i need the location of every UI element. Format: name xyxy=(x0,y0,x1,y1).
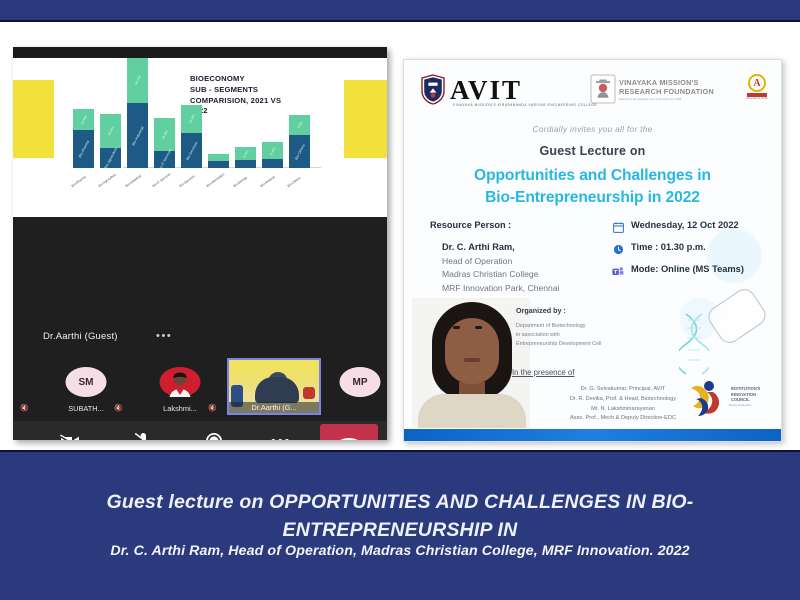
poster-subheading: Guest Lecture on xyxy=(404,144,781,158)
bar-segment-2022: 14.9% xyxy=(73,109,94,130)
organizer-line-3: Entrepreneurship Development Cell xyxy=(516,340,601,349)
bar-value-label: 24% xyxy=(296,121,303,129)
caption-subtitle: Dr. C. Arthi Ram, Head of Operation, Mad… xyxy=(0,543,800,559)
participant-name: SUBATH... xyxy=(49,404,123,413)
bar-segment-2021: Bio-Industrial xyxy=(127,103,148,168)
event-time: Time : 01.30 p.m. xyxy=(631,242,706,252)
meeting-top-bar xyxy=(13,47,387,58)
mic-off-icon: 🔇 xyxy=(208,404,215,413)
chart-category-label: Bio-Informatics xyxy=(206,172,226,188)
event-date-row: Wednesday, 12 Oct 2022 xyxy=(612,220,780,242)
vmrf-name: VINAYAKA MISSION'S RESEARCH FOUNDATION xyxy=(619,79,729,97)
naac-grade: A xyxy=(748,74,766,92)
participant-tile-subath[interactable]: SM SUBATH... 🔇 xyxy=(49,358,123,415)
participant-name: Lakshmi... xyxy=(143,404,217,413)
photo-eye-right xyxy=(475,326,482,329)
share-audio-icon[interactable] xyxy=(198,429,230,440)
bar-segment-2021 xyxy=(208,161,229,168)
event-time-row: Time : 01.30 p.m. xyxy=(612,242,780,264)
bar-segment-2022: 15.9% xyxy=(154,118,175,151)
bar-segment-2021: Bio-Others xyxy=(289,135,310,168)
dna-helix-icon xyxy=(679,312,709,376)
bar-column: 16.8%Bio-Agriculture xyxy=(100,114,121,168)
mic-off-icon[interactable] xyxy=(128,429,160,440)
bar-category-inline-label: Bio-Pharma xyxy=(77,140,89,159)
vmrf-name-line-2: RESEARCH FOUNDATION xyxy=(619,88,729,97)
vmrf-emblem-icon xyxy=(590,74,616,104)
organizer-line-1: Department of Biotechnology xyxy=(516,322,601,331)
meeting-stage-background xyxy=(13,217,387,322)
bar-segment-2022: 16.8% xyxy=(100,114,121,148)
chart-category-label: Bio-Agriculture xyxy=(98,172,117,188)
chart-category-label: Bio-IT Services xyxy=(152,172,172,188)
bar-column: 14.9%Bio-Pharma xyxy=(73,109,94,168)
bar-segment-2021 xyxy=(262,159,283,168)
poster-title-line-2: Bio-Entrepreneurship in 2022 xyxy=(404,187,781,209)
bar-segment-2022: 24% xyxy=(289,115,310,135)
chart-category-label: Bio-Energy xyxy=(233,175,248,188)
active-speaker-name: Dr.Aarthi (Guest) xyxy=(43,331,118,342)
bar-category-inline-label: Bio-Others xyxy=(294,143,306,160)
event-details: Wednesday, 12 Oct 2022 Time : 01.30 p.m. xyxy=(612,220,780,286)
resource-person-name: Dr. C. Arthi Ram, xyxy=(442,242,515,252)
affiliation-line-2: Madras Christian College xyxy=(442,268,560,281)
participant-roster: 🔇 SM SUBATH... 🔇 Lakshmi... xyxy=(13,358,387,418)
teams-icon xyxy=(612,265,624,277)
event-poster: AVIT VINAYAKA MISSION'S KIRUPANANDA VARI… xyxy=(403,59,782,442)
bar-category-inline-label: Bio-Agriculture xyxy=(103,147,118,170)
bar-segment-2021 xyxy=(235,160,256,168)
bar-column: 24%Bio-Others xyxy=(289,115,310,168)
bar-segment-2021: Bio-Pharma xyxy=(73,130,94,168)
caption-band: Guest lecture on OPPORTUNITIES AND CHALL… xyxy=(0,450,800,600)
shared-screen-slide: BIOECONOMY SUB - SEGMENTS COMPARISION, 2… xyxy=(13,58,387,217)
bar-column: 16.9%Bio-Services xyxy=(181,105,202,168)
bar-column: 6.6% xyxy=(262,142,283,168)
resource-person-heading: Resource Person : xyxy=(430,220,511,230)
organized-by-details: Department of Biotechnology in associati… xyxy=(516,322,601,350)
participant-tile-partial[interactable]: 🔇 xyxy=(13,358,29,415)
bar-segment-2022: 4.4% xyxy=(235,147,256,160)
iic-ministry-note: Ministry of Education xyxy=(729,404,777,407)
content-area: BIOECONOMY SUB - SEGMENTS COMPARISION, 2… xyxy=(0,24,800,450)
more-options-icon[interactable]: ••• xyxy=(265,429,297,440)
organizer-line-2: in association with xyxy=(516,331,601,340)
affiliation-line-3: MRF Innovation Park, Chennai xyxy=(442,282,560,295)
bar-value-label: 16.9% xyxy=(187,114,195,125)
event-mode-row: Mode: Online (MS Teams) xyxy=(612,264,780,286)
bar-segment-2021: Bio-Agriculture xyxy=(100,148,121,168)
mic-off-icon: 🔇 xyxy=(20,404,27,413)
chart-category-label: Bio-Others xyxy=(287,176,302,188)
slide-decoration-right xyxy=(344,80,387,158)
bar-segment-2022: 46.4% xyxy=(127,58,148,103)
bar-value-label: 46.4% xyxy=(133,74,141,85)
camera-off-icon[interactable] xyxy=(55,429,87,440)
clock-icon xyxy=(612,243,624,255)
poster-title: Opportunities and Challenges in Bio-Entr… xyxy=(404,165,781,209)
bar-segment-2022: 6.6% xyxy=(262,142,283,159)
avatar: SM xyxy=(66,367,107,397)
bar-value-label: 4.4% xyxy=(242,149,249,158)
avatar: MP xyxy=(340,367,381,397)
participant-name: Dr.Aarthi (G... xyxy=(229,402,319,413)
meeting-control-bar: ••• xyxy=(13,421,387,440)
slide-decoration-left xyxy=(13,80,54,158)
calendar-icon xyxy=(612,221,624,233)
participant-tile-mp[interactable]: MP xyxy=(333,358,387,415)
bar-column: 4.4% xyxy=(235,147,256,168)
bar-category-inline-label: Bio-Services xyxy=(185,141,198,161)
poster-footer-band xyxy=(404,428,781,441)
bar-value-label: 14.9% xyxy=(79,114,87,125)
presence-heading: In the presence of xyxy=(512,368,574,377)
iic-label: INSTITUTION'S INNOVATION COUNCIL xyxy=(731,386,777,403)
participant-tile-lakshmi[interactable]: Lakshmi... 🔇 xyxy=(143,358,217,415)
ms-teams-meeting-window: BIOECONOMY SUB - SEGMENTS COMPARISION, 2… xyxy=(13,47,387,440)
vmrf-deemed-note: Deemed to be University u/s 3 of the UGC… xyxy=(619,98,731,101)
chart-category-label: Bio-Pharma xyxy=(71,175,87,188)
iic-line-3: COUNCIL xyxy=(731,397,777,403)
naac-accreditation-badge: A Accredited by NAAC xyxy=(745,74,769,104)
video-person-body xyxy=(255,377,299,403)
bar-value-label: 6.6% xyxy=(269,146,276,155)
naac-caption: Accredited by NAAC xyxy=(745,98,769,101)
avit-shield-icon xyxy=(420,74,446,105)
avit-subtitle: VINAYAKA MISSION'S KIRUPANANDA VARIYAR E… xyxy=(453,103,597,107)
poster-title-line-1: Opportunities and Challenges in xyxy=(404,165,781,187)
speaker-more-options-icon[interactable]: ••• xyxy=(156,330,172,342)
bar-segment-2022: 16.9% xyxy=(181,105,202,133)
bar-segment-2021: Bio-Services xyxy=(181,133,202,168)
bar-column xyxy=(208,154,229,168)
event-date: Wednesday, 12 Oct 2022 xyxy=(631,220,739,230)
event-mode: Mode: Online (MS Teams) xyxy=(631,264,744,274)
bar-category-inline-label: Bio-IT Services xyxy=(157,148,172,171)
photo-eye-left xyxy=(453,326,460,329)
bar-value-label: 16.8% xyxy=(106,126,114,137)
bar-chart: 14.9%Bio-PharmaBio-Pharma16.8%Bio-Agricu… xyxy=(71,76,321,190)
video-background-right xyxy=(303,387,315,399)
chart-category-label: Bio-Medical xyxy=(260,175,276,188)
bar-column: 15.9%Bio-IT Services xyxy=(154,118,175,168)
bar-segment-2022 xyxy=(208,154,229,161)
mic-off-icon: 🔇 xyxy=(114,404,121,413)
poster-logo-row: AVIT VINAYAKA MISSION'S KIRUPANANDA VARI… xyxy=(404,72,781,110)
organized-by-heading: Organized by : xyxy=(516,306,566,315)
poster-invite-line: Cordially invites you all for the xyxy=(404,124,781,134)
bar-category-inline-label: Bio-Industrial xyxy=(131,125,144,146)
avatar xyxy=(160,367,201,397)
affiliation-line-1: Head of Operation xyxy=(442,255,560,268)
bar-column: 46.4%Bio-Industrial xyxy=(127,58,148,168)
bar-value-label: 15.9% xyxy=(160,129,168,140)
resource-person-affiliation: Head of Operation Madras Christian Colle… xyxy=(442,255,560,295)
hangup-button[interactable] xyxy=(320,424,378,440)
caption-title: Guest lecture on OPPORTUNITIES AND CHALL… xyxy=(0,488,800,545)
participant-tile-active-video[interactable]: Dr.Aarthi (G... xyxy=(227,358,321,415)
top-accent-band xyxy=(0,0,800,22)
chart-category-label: Bio-Industrial xyxy=(125,174,142,188)
photo-mouth xyxy=(464,358,480,362)
chart-category-label: Bio-Services xyxy=(179,174,196,188)
avit-wordmark: AVIT xyxy=(450,75,522,106)
bar-segment-2021: Bio-IT Services xyxy=(154,151,175,168)
